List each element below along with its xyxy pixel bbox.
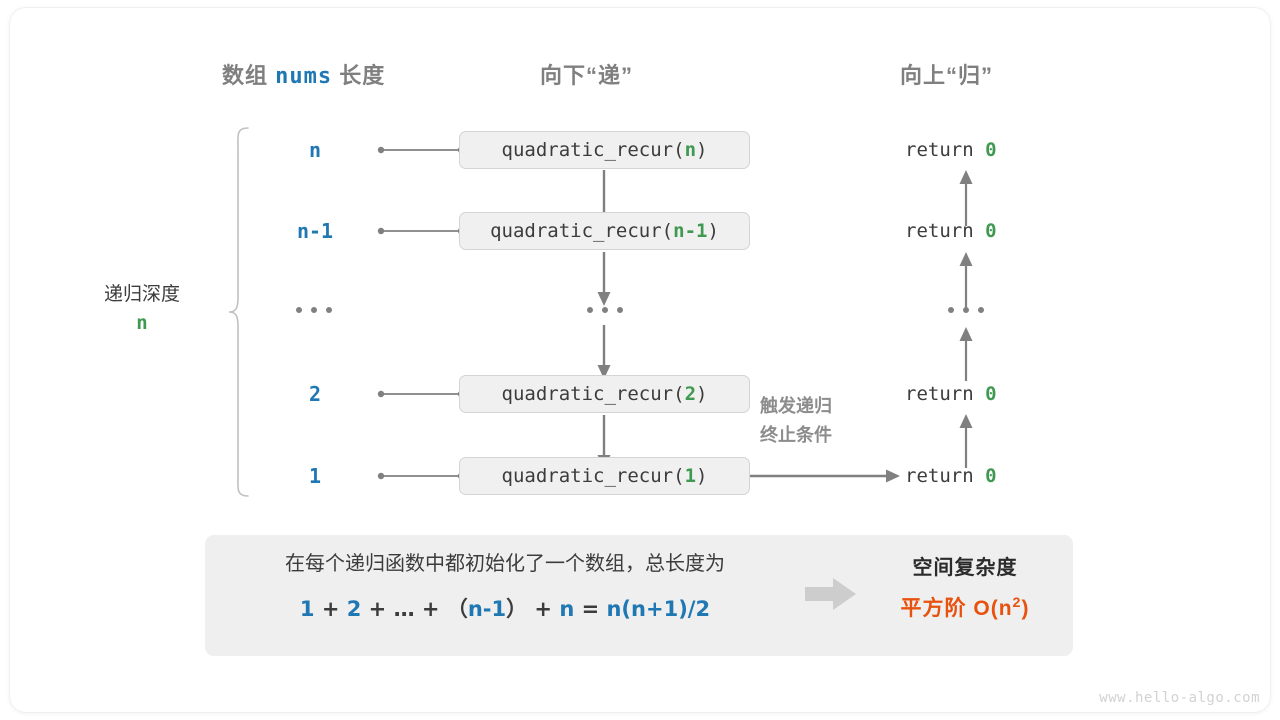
call-box-1[interactable]: quadratic_recur(n-1) bbox=[459, 212, 750, 250]
formula-op-4: = bbox=[574, 597, 606, 621]
header-descend: 向下“递” bbox=[540, 58, 633, 90]
diagram-stage: 数组 nums 长度 向下“递” 向上“归” 递归深度 n n quadrati… bbox=[10, 8, 1270, 712]
summary-panel: 在每个递归函数中都初始化了一个数组，总长度为 1 + 2 + … + （n-1）… bbox=[205, 535, 1073, 656]
diagram-card: 数组 nums 长度 向下“递” 向上“归” 递归深度 n n quadrati… bbox=[10, 8, 1270, 712]
header-ascend: 向上“归” bbox=[900, 58, 993, 90]
call-box-3-arg: 2 bbox=[685, 383, 696, 405]
call-box-1-suffix: ) bbox=[707, 220, 718, 242]
complexity-title: 空间复杂度 bbox=[865, 551, 1065, 580]
call-box-0[interactable]: quadratic_recur(n) bbox=[459, 131, 750, 169]
connector-line-0 bbox=[376, 141, 466, 159]
summary-formula: 1 + 2 + … + （n-1） + n = n(n+1)/2 bbox=[225, 593, 785, 623]
complexity-value-suffix: ) bbox=[1021, 597, 1029, 620]
connector-line-4 bbox=[376, 467, 466, 485]
call-box-4-arg: 1 bbox=[685, 465, 696, 487]
descend-arrow-1-icon bbox=[592, 252, 616, 310]
level-number-1: n-1 bbox=[270, 219, 360, 243]
formula-op-2: + … + （ bbox=[361, 597, 467, 621]
formula-term-2: 2 bbox=[347, 597, 362, 621]
return-label-3: return 0 bbox=[905, 383, 997, 405]
formula-op-1: + bbox=[315, 597, 347, 621]
return-label-1-text: return bbox=[905, 220, 985, 242]
call-box-3[interactable]: quadratic_recur(2) bbox=[459, 375, 750, 413]
complexity-value: 平方阶 O(n2) bbox=[865, 592, 1065, 622]
call-box-3-suffix: ) bbox=[696, 383, 707, 405]
formula-term-4: n bbox=[559, 597, 574, 621]
header-left-prefix: 数组 bbox=[222, 63, 275, 88]
call-box-4-suffix: ) bbox=[696, 465, 707, 487]
ascend-arrow-3-icon bbox=[954, 412, 978, 468]
header-left-code: nums bbox=[275, 64, 332, 89]
return-label-0-text: return bbox=[905, 139, 985, 161]
call-box-1-arg: n-1 bbox=[673, 220, 707, 242]
summary-text: 在每个递归函数中都初始化了一个数组，总长度为 bbox=[225, 551, 785, 578]
base-case-note-line2: 终止条件 bbox=[760, 421, 832, 450]
call-box-0-prefix: quadratic_recur( bbox=[502, 139, 685, 161]
level-number-4: 1 bbox=[270, 464, 360, 488]
depth-brace-icon bbox=[228, 126, 254, 498]
return-label-4-text: return bbox=[905, 465, 985, 487]
result-arrow-icon bbox=[805, 577, 857, 611]
base-case-note: 触发递归 终止条件 bbox=[760, 392, 832, 450]
formula-term-1: 1 bbox=[300, 597, 315, 621]
level-number-0: n bbox=[270, 138, 360, 162]
return-label-0-value: 0 bbox=[985, 139, 996, 161]
call-box-4-prefix: quadratic_recur( bbox=[502, 465, 685, 487]
connector-line-1 bbox=[376, 222, 466, 240]
call-box-0-arg: n bbox=[685, 139, 696, 161]
formula-op-3: ） + bbox=[506, 597, 559, 621]
formula-result: n(n+1)/2 bbox=[606, 597, 710, 621]
return-label-0: return 0 bbox=[905, 139, 997, 161]
return-label-1: return 0 bbox=[905, 220, 997, 242]
connector-line-3 bbox=[376, 385, 466, 403]
recursion-depth-text: 递归深度 bbox=[62, 280, 222, 309]
base-case-arrow-icon bbox=[750, 466, 910, 486]
call-box-4[interactable]: quadratic_recur(1) bbox=[459, 457, 750, 495]
return-label-3-text: return bbox=[905, 383, 985, 405]
header-array-length: 数组 nums 长度 bbox=[222, 58, 385, 90]
level-ellipsis-middle bbox=[587, 307, 623, 313]
complexity-block: 空间复杂度 平方阶 O(n2) bbox=[865, 551, 1065, 622]
base-case-note-line1: 触发递归 bbox=[760, 392, 832, 421]
complexity-value-prefix: 平方阶 O(n bbox=[901, 597, 1013, 620]
level-ellipsis-left bbox=[296, 307, 332, 313]
formula-term-3: n-1 bbox=[468, 597, 506, 621]
return-label-4-value: 0 bbox=[985, 465, 996, 487]
return-label-1-value: 0 bbox=[985, 220, 996, 242]
call-box-0-suffix: ) bbox=[696, 139, 707, 161]
header-left-suffix: 长度 bbox=[332, 63, 385, 88]
call-box-1-prefix: quadratic_recur( bbox=[490, 220, 673, 242]
recursion-depth-label: 递归深度 n bbox=[62, 280, 222, 339]
recursion-depth-value: n bbox=[62, 309, 222, 338]
level-number-3: 2 bbox=[270, 382, 360, 406]
ascend-arrow-0-icon bbox=[954, 168, 978, 226]
ascend-arrow-2-icon bbox=[954, 325, 978, 381]
level-ellipsis-right bbox=[948, 307, 984, 313]
ascend-arrow-1-icon bbox=[954, 250, 978, 308]
return-label-4: return 0 bbox=[905, 465, 997, 487]
watermark: www.hello-algo.com bbox=[1099, 690, 1260, 706]
return-label-3-value: 0 bbox=[985, 383, 996, 405]
call-box-3-prefix: quadratic_recur( bbox=[502, 383, 685, 405]
